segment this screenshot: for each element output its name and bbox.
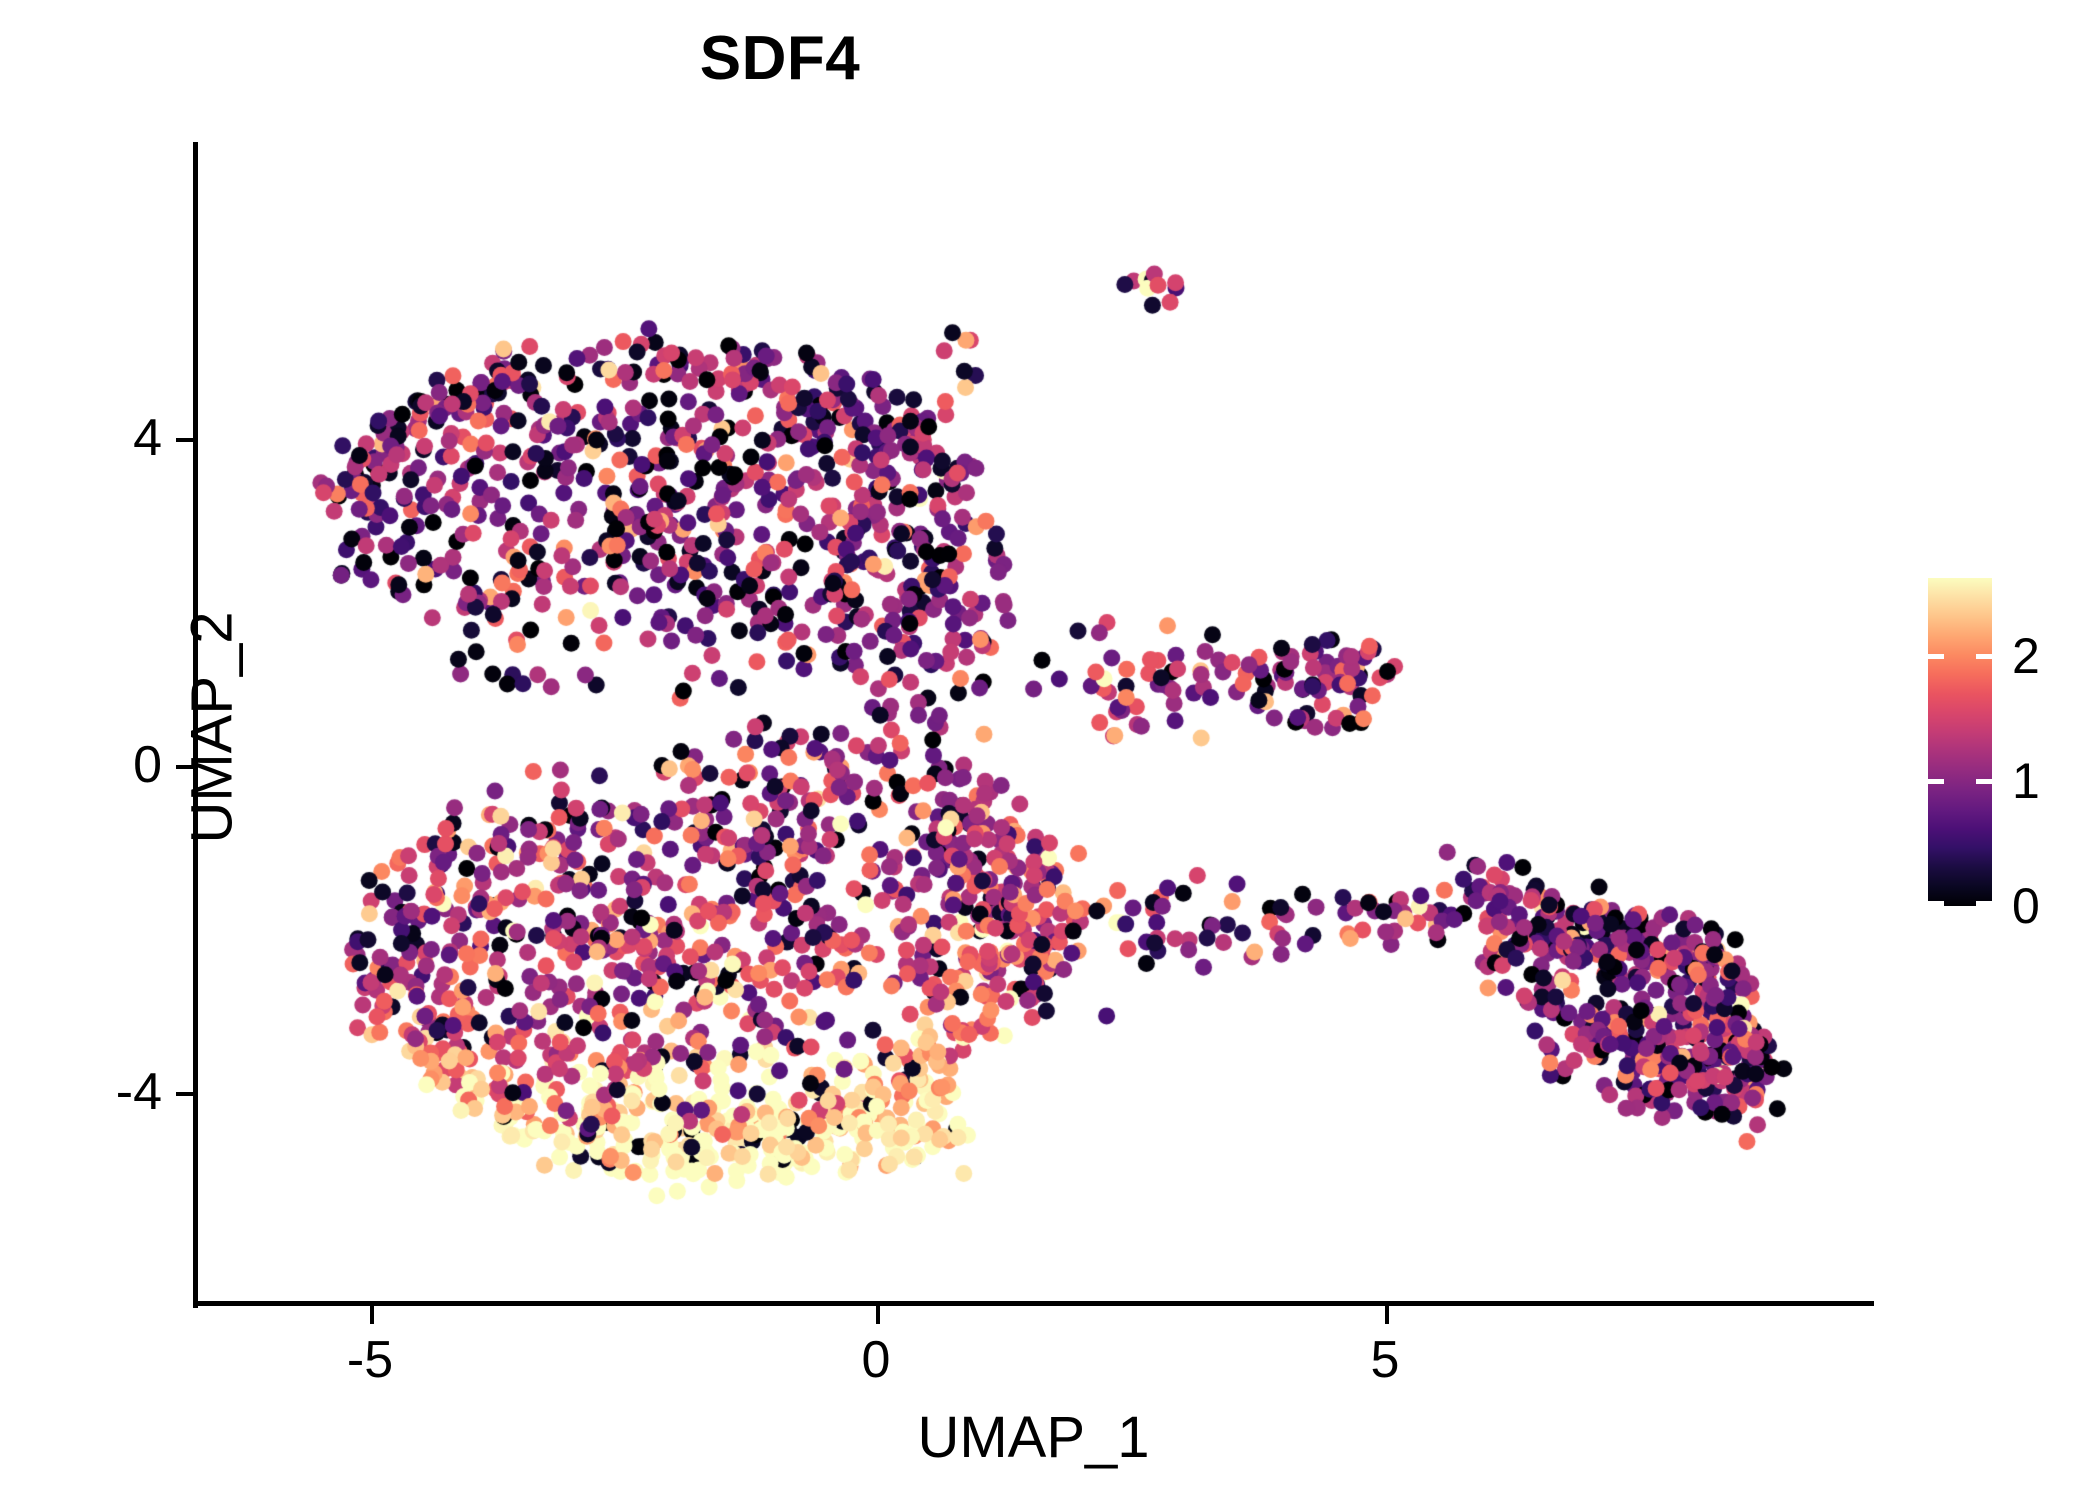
umap-feature-plot-figure: SDF4 4 0 -4 -5 0 5 UMAP_1 UMAP_2 2 1 0: [0, 0, 2100, 1500]
x-tick-mark-minus5: [370, 1306, 374, 1324]
y-axis-title: UMAP_2: [179, 148, 246, 1308]
colorbar-tick-2-right: [1976, 654, 1992, 659]
colorbar-tick-0-right: [1976, 901, 1992, 906]
x-tick-mark-5: [1385, 1306, 1389, 1324]
x-tick-label-0: 0: [796, 1330, 956, 1390]
colorbar-tick-1-left: [1928, 779, 1944, 784]
y-tick-label-minus4: -4: [22, 1062, 162, 1122]
colorbar-tick-1-right: [1976, 779, 1992, 784]
y-tick-label-0: 0: [22, 735, 162, 795]
y-tick-label-4: 4: [22, 408, 162, 468]
colorbar-legend: 2 1 0: [1928, 578, 1992, 906]
scatter-plot-canvas: [0, 0, 2100, 1500]
x-tick-mark-0: [876, 1306, 880, 1324]
colorbar-tick-2-left: [1928, 654, 1944, 659]
colorbar-gradient: [1928, 578, 1992, 906]
colorbar-label-2: 2: [2012, 627, 2040, 685]
colorbar-label-1: 1: [2012, 752, 2040, 810]
x-axis-line: [193, 1301, 1874, 1306]
x-tick-label-minus5: -5: [290, 1330, 450, 1390]
x-axis-title: UMAP_1: [193, 1404, 1874, 1471]
colorbar-label-0: 0: [2012, 877, 2040, 935]
page-title: SDF4: [0, 28, 1560, 90]
x-tick-label-5: 5: [1305, 1330, 1465, 1390]
colorbar-tick-0-left: [1928, 901, 1944, 906]
